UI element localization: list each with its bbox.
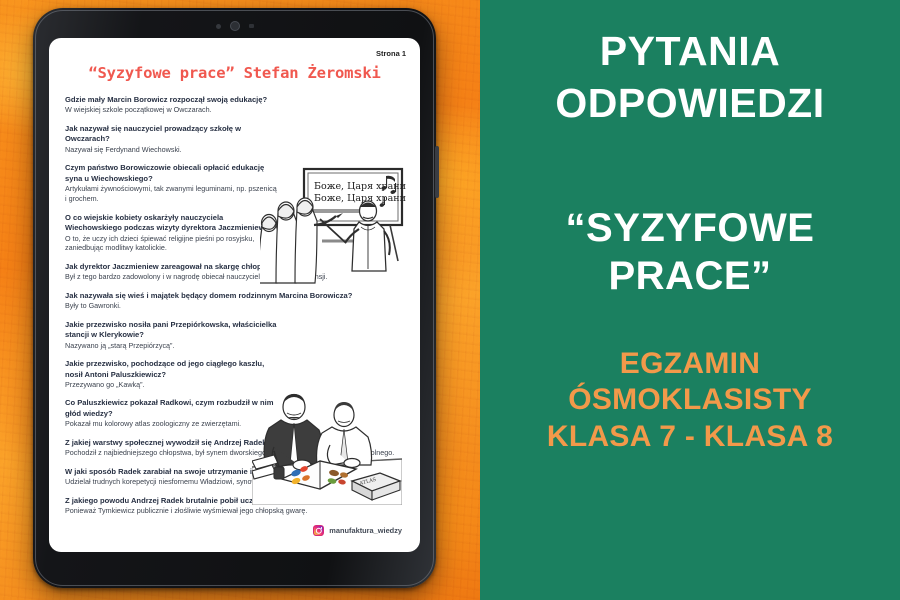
answer-text: Ponieważ Tymkiewicz publicznie i złośliw… <box>65 506 395 516</box>
question-text: Czym państwo Borowiczowie obiecali opłac… <box>65 163 277 184</box>
question-text: Jak nazywała się wieś i majątek będący d… <box>65 291 395 301</box>
qa-item: Jak nazywała się wieś i majątek będący d… <box>65 291 404 311</box>
speaker-slit-icon <box>249 24 254 28</box>
question-text: Co Paluszkiewicz pokazał Radkowi, czym r… <box>65 398 277 419</box>
qa-item: Jakie przezwisko nosiła pani Przepiórkow… <box>65 320 404 351</box>
document-page: Strona 1 “Syzyfowe prace” Stefan Żeromsk… <box>49 38 420 552</box>
blackboard-line-2: Боже, Царя храни! <box>314 193 406 204</box>
instagram-icon <box>313 525 324 536</box>
subtitle-line-1: EGZAMIN <box>620 346 760 383</box>
question-text: Gdzie mały Marcin Borowicz rozpoczął swo… <box>65 95 311 105</box>
instagram-handle: manufaktura_wiedzy <box>329 526 402 535</box>
subtitle-line-2: ÓSMOKLASISTY <box>568 382 812 419</box>
answer-text: Artykułami żywnościowymi, tak zwanymi le… <box>65 184 277 204</box>
hero-heading-line-2: ODPOWIEDZI <box>555 80 824 128</box>
answer-text: W wiejskiej szkole początkowej w Owczara… <box>65 105 311 115</box>
question-text: Jakie przezwisko, pochodzące od jego cią… <box>65 359 277 380</box>
subtitle-line-3: KLASA 7 - KLASA 8 <box>547 419 833 456</box>
qa-item: Jakie przezwisko, pochodzące od jego cią… <box>65 359 404 390</box>
qa-item: Gdzie mały Marcin Borowicz rozpoczął swo… <box>65 95 404 115</box>
qa-item: Jak nazywał się nauczyciel prowadzący sz… <box>65 124 404 155</box>
camera-lens-icon <box>230 21 240 31</box>
document-title: “Syzyfowe prace” Stefan Żeromski <box>65 64 404 82</box>
answer-text: Nazywał się Ferdynand Wiechowski. <box>65 145 277 155</box>
green-promo-panel: PYTANIA ODPOWIEDZI “SYZYFOWE PRACE” EGZA… <box>480 0 900 600</box>
illustration-classroom: Боже, Царя храни! Боже, Царя храни! <box>260 167 406 285</box>
book-title-line-1: “SYZYFOWE <box>566 205 815 251</box>
sensor-dot-icon <box>216 24 221 29</box>
question-answer-list: Боже, Царя храни! Боже, Царя храни! <box>65 95 404 516</box>
answer-text: O to, że uczy ich dzieci śpiewać religij… <box>65 234 277 254</box>
answer-text: Nazywano ją „starą Przepiórzycą”. <box>65 341 277 351</box>
question-text: Jak nazywał się nauczyciel prowadzący sz… <box>65 124 277 145</box>
answer-text: Pokazał mu kolorowy atlas zoologiczny ze… <box>65 419 277 429</box>
answer-text: Przezywano go „Kawką”. <box>65 380 277 390</box>
volume-button[interactable] <box>435 146 439 198</box>
question-text: Jakie przezwisko nosiła pani Przepiórkow… <box>65 320 277 341</box>
tablet-device-mockup: Strona 1 “Syzyfowe prace” Stefan Żeromsk… <box>33 8 436 588</box>
instagram-credit[interactable]: manufaktura_wiedzy <box>313 525 402 536</box>
front-camera-bar <box>181 20 289 32</box>
hero-heading-line-1: PYTANIA <box>600 28 780 76</box>
book-title-line-2: PRACE” <box>608 253 771 299</box>
question-text: O co wiejskie kobiety oskarżyły nauczyci… <box>65 213 277 234</box>
page-number-label: Strona 1 <box>376 49 406 58</box>
illustration-atlas: ATLAS <box>252 393 402 505</box>
answer-text: Były to Gawronki. <box>65 301 395 311</box>
